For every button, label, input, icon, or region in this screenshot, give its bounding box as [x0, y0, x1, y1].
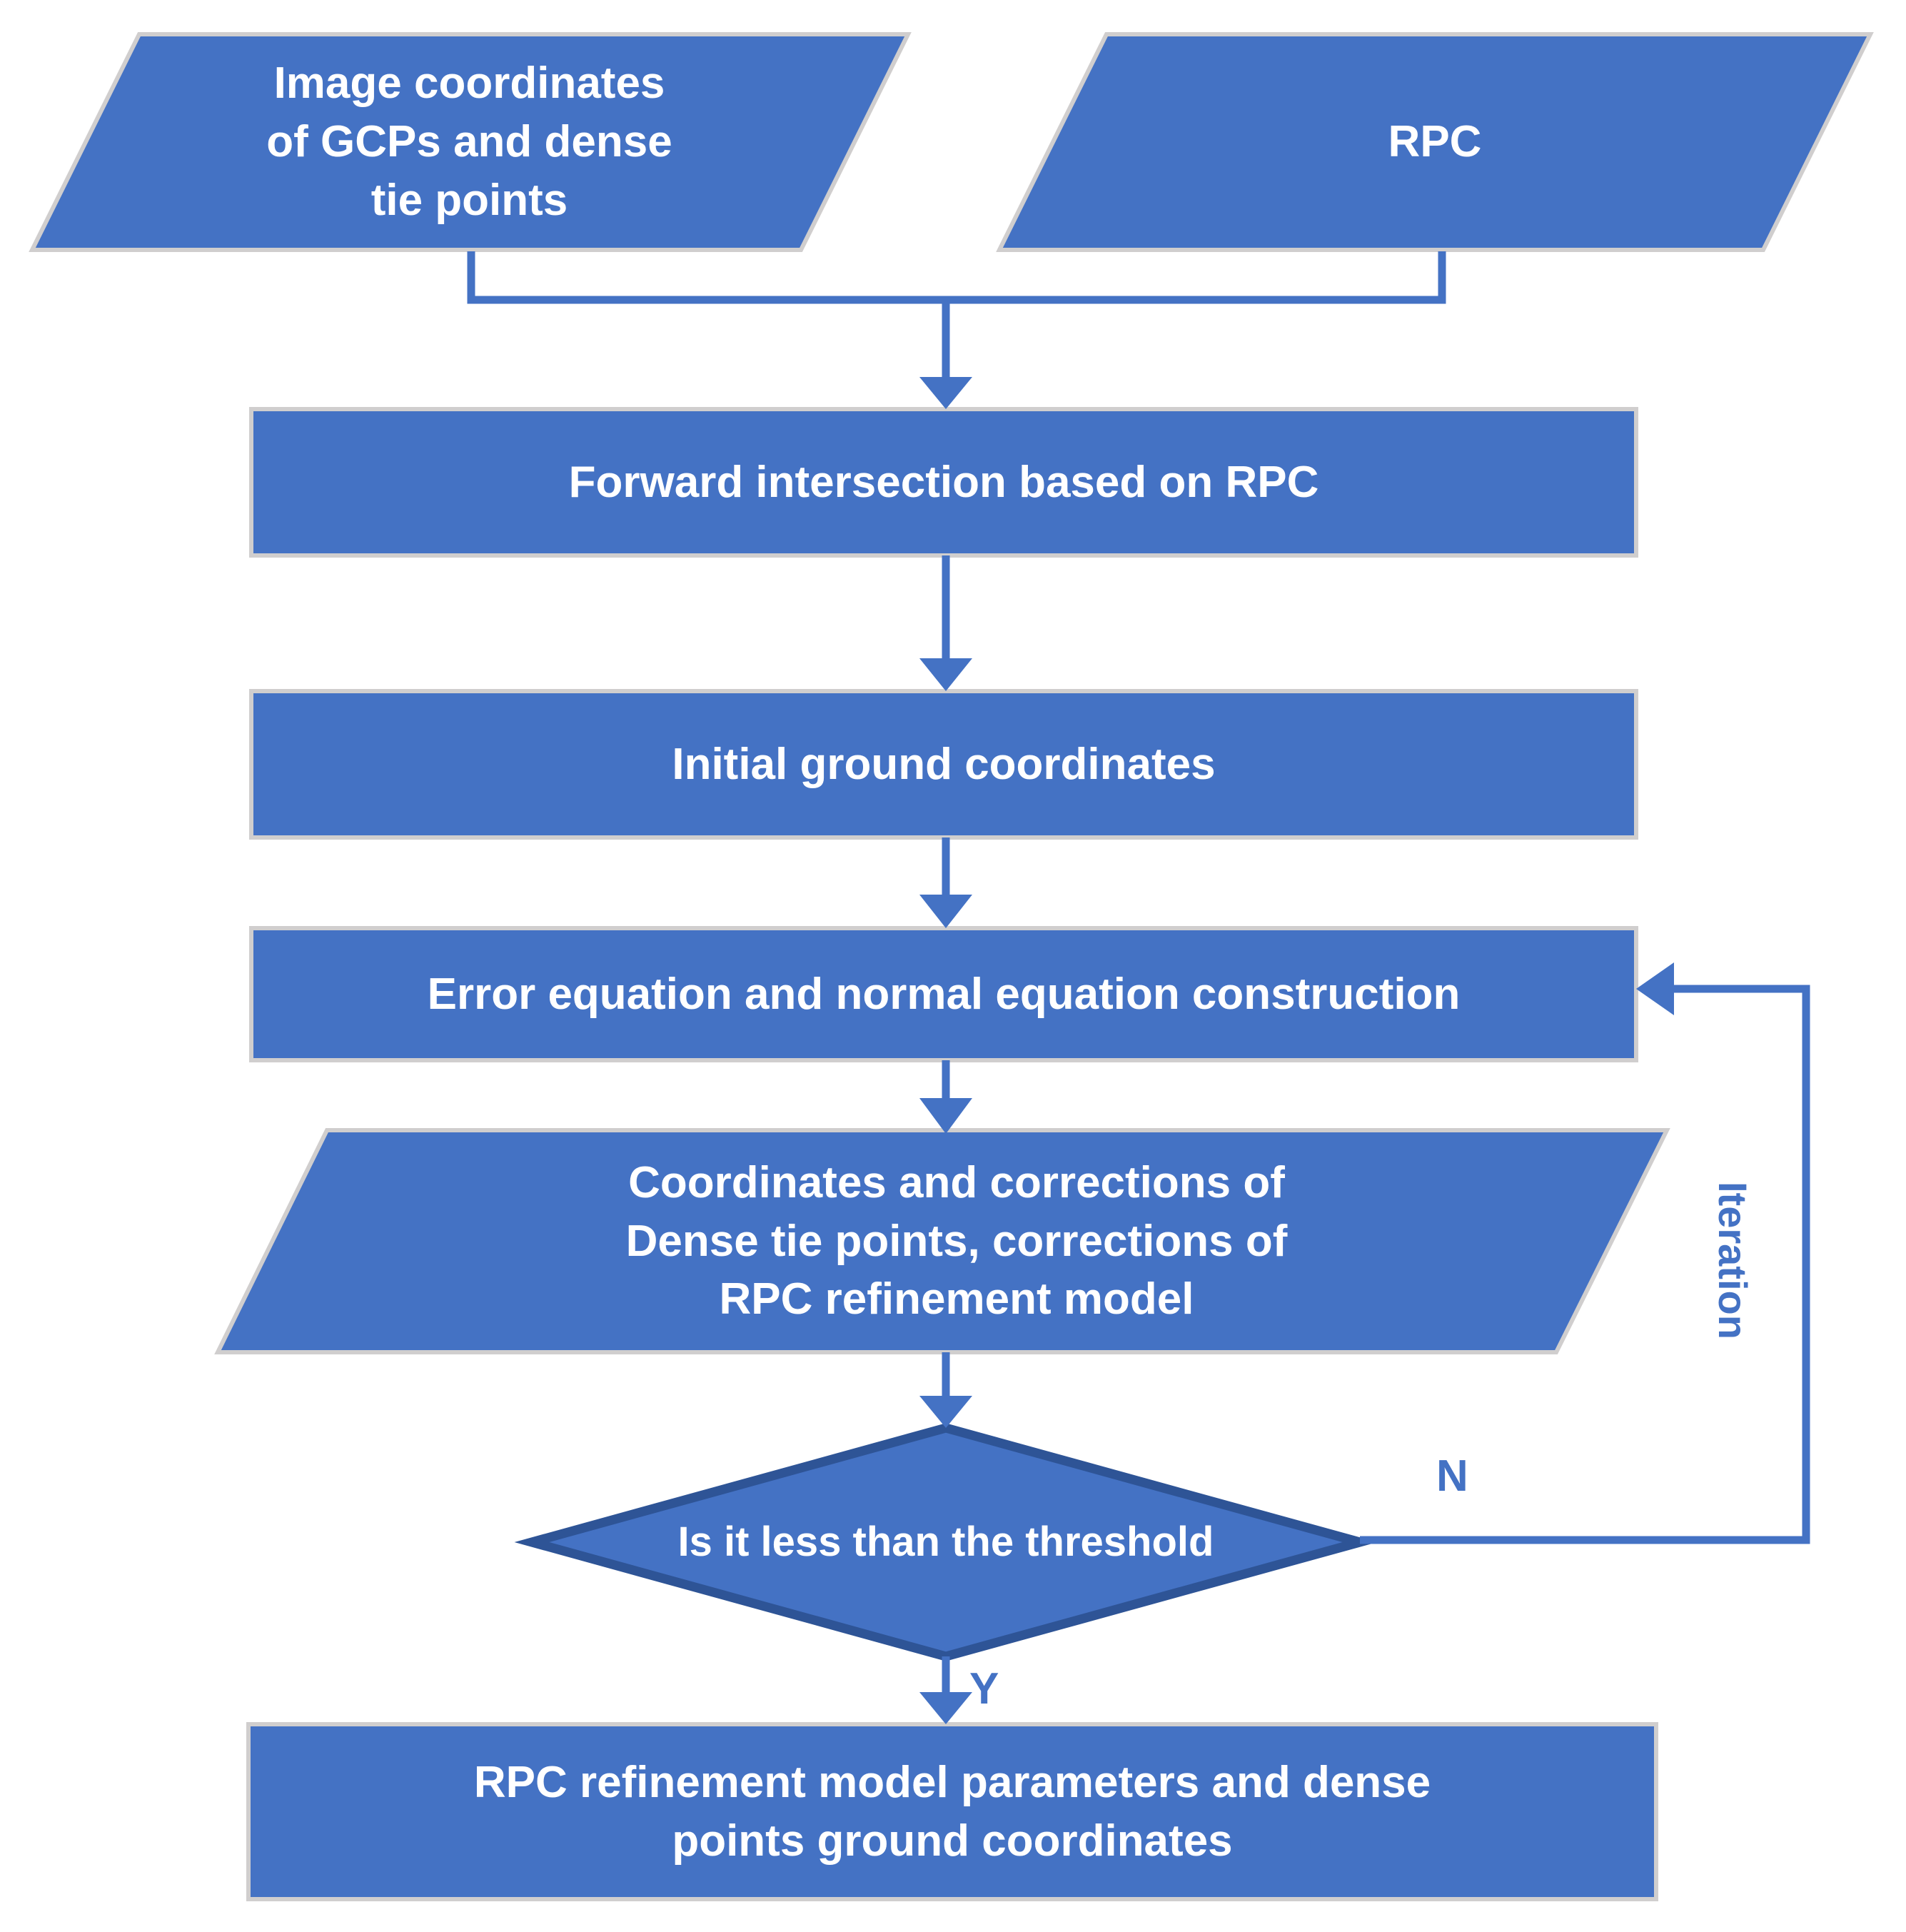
arrowhead-to-error-equation [919, 895, 972, 928]
shape-forward-intersection[interactable] [251, 409, 1636, 555]
edge-label-no: N [1436, 1451, 1468, 1501]
shape-image-coordinates[interactable] [32, 34, 908, 250]
arrowhead-to-output [919, 1692, 972, 1724]
shape-initial-ground-coordinates[interactable] [251, 691, 1636, 837]
flowchart-canvas: Image coordinates of GCPs and dense tie … [0, 0, 1906, 1932]
connector-inputs-merge [471, 251, 1442, 300]
arrowhead-to-error-equation-loop [1636, 962, 1674, 1015]
arrowhead-to-initial-ground [919, 658, 972, 691]
edge-label-iteration: Iteration [1710, 1182, 1756, 1339]
shape-rpc[interactable] [999, 34, 1870, 250]
shape-coordinates-corrections[interactable] [218, 1130, 1667, 1352]
edge-label-yes: Y [969, 1664, 999, 1714]
shape-error-equation[interactable] [251, 928, 1636, 1060]
shape-rpc-output[interactable] [248, 1724, 1656, 1899]
arrowhead-to-decision [919, 1396, 972, 1428]
arrowhead-to-forward-intersection [919, 377, 972, 409]
flowchart-shapes-and-connectors [0, 0, 1906, 1932]
shape-threshold-decision[interactable] [532, 1428, 1360, 1656]
